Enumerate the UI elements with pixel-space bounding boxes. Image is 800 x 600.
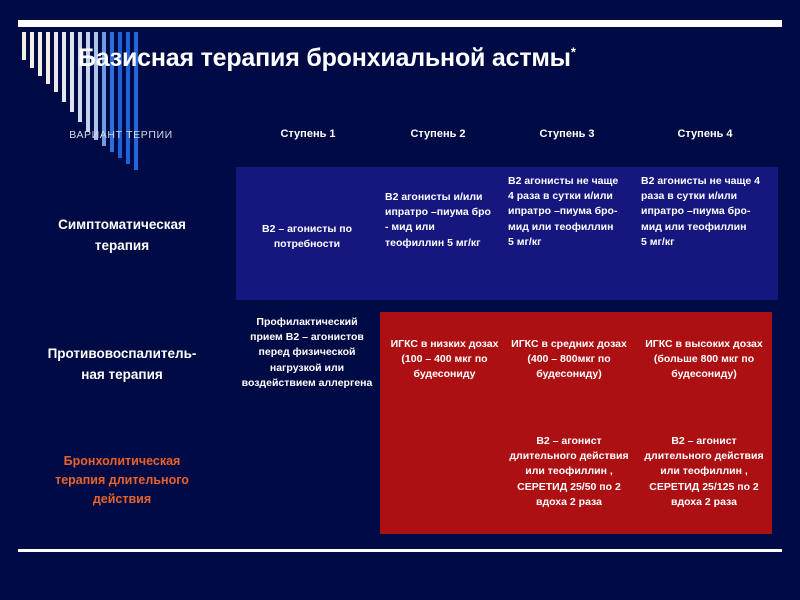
decorative-bar-1 — [22, 32, 26, 60]
cell-r1c1: В2 – агонисты по потребности — [244, 222, 370, 252]
column-header-step-4: Ступень 4 — [645, 128, 765, 140]
page-title: Базисная терапия бронхиальной астмы* — [78, 44, 778, 73]
cell-r3c4: В2 – агонист длительного действия или те… — [639, 434, 769, 510]
decorative-bar-4 — [46, 32, 50, 84]
cell-r2c1: Профилактический прием В2 – агонистов пе… — [240, 315, 374, 391]
cell-r3c3: В2 – агонист длительного действия или те… — [505, 434, 633, 510]
column-header-step-3: Ступень 3 — [507, 128, 627, 140]
row-label-symptomatic-therapy: Симптоматическаятерапия — [22, 215, 222, 257]
column-header-variant: ВАРИАНТ ТЕРПИИ — [36, 129, 206, 141]
cell-r2c2: ИГКС в низких дозах (100 – 400 мкг по бу… — [387, 337, 502, 383]
row-label-anti-inflammatory-therapy: Противовоспалитель-ная терапия — [22, 344, 222, 386]
cell-r1c4: В2 агонисты не чаще 4 раза в сутки и/или… — [641, 174, 763, 250]
page-title-footnote-marker: * — [571, 45, 576, 60]
decorative-bar-7 — [70, 32, 74, 112]
decorative-bar-2 — [30, 32, 34, 68]
decorative-bar-5 — [54, 32, 58, 92]
decorative-bar-6 — [62, 32, 66, 102]
presentation-slide: Базисная терапия бронхиальной астмы* ВАР… — [0, 0, 800, 600]
cell-r1c2: В2 агонисты и/или ипратро –пиума бро - м… — [385, 190, 495, 251]
page-title-text: Базисная терапия бронхиальной астмы — [78, 44, 571, 72]
column-header-step-2: Ступень 2 — [378, 128, 498, 140]
cell-r2c3: ИГКС в средних дозах (400 – 800мкг по бу… — [509, 337, 629, 383]
column-header-step-1: Ступень 1 — [248, 128, 368, 140]
cell-r1c3: В2 агонисты не чаще 4 раза в сутки и/или… — [508, 174, 626, 250]
row-label-bronchodilator-therapy: Бронхолитическаятерапия длительногодейст… — [22, 452, 222, 508]
cell-r2c4: ИГКС в высоких дозах (больше 800 мкг по … — [642, 337, 766, 383]
decorative-bar-3 — [38, 32, 42, 76]
bottom-divider-rule — [18, 549, 782, 552]
top-divider-rule — [18, 20, 782, 27]
